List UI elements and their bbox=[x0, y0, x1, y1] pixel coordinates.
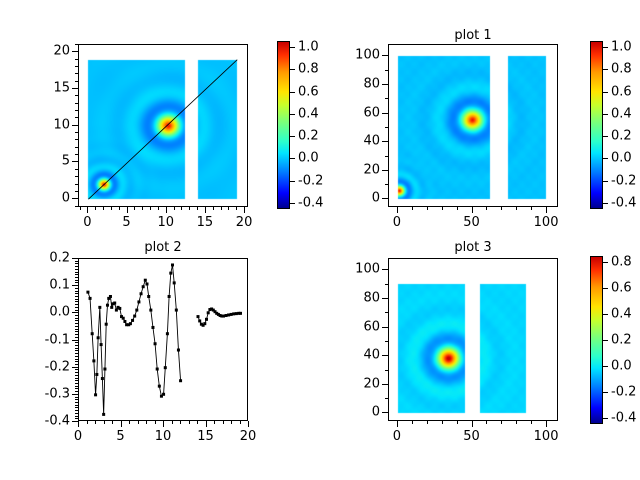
data-point-marker bbox=[140, 292, 143, 295]
x-minor-tick bbox=[138, 421, 139, 424]
y-minor-tick bbox=[75, 394, 78, 395]
colorbar-tick-label: -0.4 bbox=[611, 411, 636, 426]
y-minor-tick bbox=[75, 399, 78, 400]
data-point-marker bbox=[133, 315, 136, 318]
y-minor-tick bbox=[75, 402, 78, 403]
diagonal-reference-line bbox=[79, 45, 248, 207]
y-minor-tick bbox=[75, 301, 78, 302]
x-minor-tick bbox=[134, 207, 135, 210]
y-minor-tick bbox=[75, 310, 78, 311]
y-minor-tick bbox=[75, 369, 78, 370]
colorbar-tick-label: 0.4 bbox=[611, 106, 632, 121]
plot-title-top-right: plot 1 bbox=[383, 28, 563, 43]
data-point-marker bbox=[102, 413, 105, 416]
colorbar-tick bbox=[603, 288, 608, 289]
colorbar-tick bbox=[603, 136, 608, 137]
y-tick-label: 0.2 bbox=[28, 251, 70, 266]
y-minor-tick bbox=[75, 350, 78, 351]
data-point-marker bbox=[103, 368, 106, 371]
x-tick-label: 20 bbox=[236, 215, 253, 230]
data-point-marker bbox=[97, 336, 100, 339]
y-minor-tick bbox=[385, 384, 388, 385]
x-minor-tick bbox=[129, 421, 130, 424]
y-minor-tick bbox=[75, 345, 78, 346]
y-minor-tick bbox=[75, 263, 78, 264]
x-minor-tick bbox=[95, 421, 96, 424]
x-tick-label: 0 bbox=[393, 429, 401, 444]
x-minor-tick bbox=[214, 421, 215, 424]
x-minor-tick bbox=[228, 207, 229, 210]
colorbar-tick bbox=[290, 92, 295, 93]
y-minor-tick bbox=[385, 127, 388, 128]
y-minor-tick bbox=[75, 397, 78, 398]
x-minor-tick bbox=[80, 207, 81, 210]
y-minor-tick bbox=[75, 375, 78, 376]
colorbar-tick-label: 0.6 bbox=[611, 281, 632, 296]
y-minor-tick bbox=[75, 364, 78, 365]
y-minor-tick bbox=[75, 139, 78, 140]
y-tick-label: -0.3 bbox=[28, 386, 70, 401]
x-minor-tick bbox=[127, 207, 128, 210]
heatmap-field-bottom-right bbox=[389, 259, 558, 421]
y-minor-tick bbox=[75, 261, 78, 262]
x-minor-tick bbox=[121, 421, 122, 424]
y-minor-tick bbox=[75, 318, 78, 319]
colorbar-tick-label: 0.4 bbox=[611, 307, 632, 322]
y-tick-label: -0.4 bbox=[28, 414, 70, 429]
line-series-group bbox=[79, 259, 248, 421]
data-point-marker bbox=[205, 318, 208, 321]
data-point-marker bbox=[207, 311, 210, 314]
y-minor-tick bbox=[385, 412, 388, 413]
y-tick-label: 40 bbox=[340, 348, 380, 363]
colorbar-tick-label: 0.8 bbox=[611, 255, 632, 270]
data-point-marker bbox=[94, 393, 97, 396]
plot-area-bottom-left bbox=[78, 258, 248, 421]
data-point-marker bbox=[135, 309, 138, 312]
y-minor-tick bbox=[75, 147, 78, 148]
y-minor-tick bbox=[75, 266, 78, 267]
data-point-marker bbox=[164, 366, 167, 369]
y-minor-tick bbox=[75, 288, 78, 289]
x-tick-label: 0 bbox=[74, 429, 82, 444]
x-tick-label: 50 bbox=[463, 215, 480, 230]
plot-title-bottom-left: plot 2 bbox=[73, 240, 253, 255]
y-minor-tick bbox=[75, 280, 78, 281]
x-minor-tick bbox=[248, 421, 249, 424]
x-minor-tick bbox=[206, 421, 207, 424]
data-point-marker bbox=[109, 295, 112, 298]
x-minor-tick bbox=[442, 421, 443, 424]
x-minor-tick bbox=[172, 421, 173, 424]
y-minor-tick bbox=[75, 296, 78, 297]
x-tick-label: 100 bbox=[534, 429, 559, 444]
y-minor-tick bbox=[75, 269, 78, 270]
colorbar-tick bbox=[290, 203, 295, 204]
y-minor-tick bbox=[75, 353, 78, 354]
data-point-marker bbox=[129, 322, 132, 325]
y-minor-tick bbox=[75, 176, 78, 177]
y-minor-tick bbox=[385, 141, 388, 142]
colorbar-tick-label: 0.0 bbox=[298, 151, 319, 166]
colorbar-tick-label: -0.2 bbox=[298, 173, 323, 188]
colorbar-tick bbox=[603, 340, 608, 341]
plot-title-bottom-right: plot 3 bbox=[383, 240, 563, 255]
y-minor-tick bbox=[75, 132, 78, 133]
x-minor-tick bbox=[427, 207, 428, 210]
colorbar-tick bbox=[603, 418, 608, 419]
x-tick-label: 0 bbox=[83, 215, 91, 230]
data-point-marker bbox=[113, 302, 116, 305]
x-minor-tick bbox=[163, 421, 164, 424]
y-minor-tick bbox=[385, 98, 388, 99]
x-minor-tick bbox=[397, 207, 398, 210]
colorbar-tick-label: 0.0 bbox=[611, 151, 632, 166]
x-minor-tick bbox=[231, 421, 232, 424]
y-minor-tick bbox=[75, 206, 78, 207]
colorbar-tick-label: 0.2 bbox=[298, 129, 319, 144]
data-point-marker bbox=[91, 332, 94, 335]
colorbar-tick-label: 0.6 bbox=[611, 84, 632, 99]
colorbar-tick-label: 0.8 bbox=[298, 62, 319, 77]
data-point-marker bbox=[149, 309, 152, 312]
y-minor-tick bbox=[75, 421, 78, 422]
x-minor-tick bbox=[472, 421, 473, 424]
colorbar-tick-label: 1.0 bbox=[611, 40, 632, 55]
colorbar-tick bbox=[603, 366, 608, 367]
plot-area-top-right bbox=[388, 44, 558, 207]
colorbar-tick-label: -0.2 bbox=[611, 385, 636, 400]
colorbar-tick bbox=[603, 203, 608, 204]
data-point-marker bbox=[110, 306, 113, 309]
x-minor-tick bbox=[197, 421, 198, 424]
data-point-marker bbox=[122, 317, 125, 320]
data-point-marker bbox=[168, 295, 171, 298]
x-minor-tick bbox=[103, 207, 104, 210]
y-tick-label: 10 bbox=[30, 117, 70, 132]
x-minor-tick bbox=[516, 207, 517, 210]
y-minor-tick bbox=[75, 282, 78, 283]
y-tick-label: 60 bbox=[340, 319, 380, 334]
y-minor-tick bbox=[75, 342, 78, 343]
y-minor-tick bbox=[75, 154, 78, 155]
figure-canvas: 05101520051015201.00.80.60.40.20.0-0.2-0… bbox=[0, 0, 640, 480]
x-minor-tick bbox=[78, 421, 79, 424]
data-point-marker bbox=[146, 282, 149, 285]
x-tick-label: 20 bbox=[240, 429, 257, 444]
y-minor-tick bbox=[75, 361, 78, 362]
y-minor-tick bbox=[75, 359, 78, 360]
colorbar-tick bbox=[603, 92, 608, 93]
plot-area-bottom-right bbox=[388, 258, 558, 421]
x-minor-tick bbox=[146, 421, 147, 424]
x-minor-tick bbox=[472, 207, 473, 210]
colorbar-tick-label: 0.2 bbox=[611, 129, 632, 144]
y-minor-tick bbox=[75, 304, 78, 305]
x-minor-tick bbox=[158, 207, 159, 210]
colorbar-tick bbox=[290, 114, 295, 115]
y-minor-tick bbox=[75, 81, 78, 82]
x-minor-tick bbox=[142, 207, 143, 210]
y-minor-tick bbox=[75, 125, 78, 126]
colorbar-tick bbox=[290, 181, 295, 182]
data-point-marker bbox=[144, 279, 147, 282]
data-point-marker bbox=[197, 315, 200, 318]
x-minor-tick bbox=[223, 421, 224, 424]
y-tick-label: 100 bbox=[340, 262, 380, 277]
x-tick-label: 5 bbox=[122, 215, 130, 230]
data-point-marker bbox=[131, 319, 134, 322]
y-minor-tick bbox=[75, 277, 78, 278]
y-minor-tick bbox=[75, 383, 78, 384]
x-tick-label: 10 bbox=[157, 215, 174, 230]
y-minor-tick bbox=[75, 388, 78, 389]
y-minor-tick bbox=[75, 416, 78, 417]
data-point-marker bbox=[86, 291, 89, 294]
y-minor-tick bbox=[75, 380, 78, 381]
y-minor-tick bbox=[385, 184, 388, 185]
colorbar-tick bbox=[290, 136, 295, 137]
colorbar-tick bbox=[290, 47, 295, 48]
x-tick-label: 50 bbox=[463, 429, 480, 444]
y-tick-label: 0 bbox=[340, 405, 380, 420]
y-minor-tick bbox=[75, 372, 78, 373]
x-minor-tick bbox=[174, 207, 175, 210]
x-minor-tick bbox=[457, 207, 458, 210]
data-point-marker bbox=[158, 385, 161, 388]
data-point-marker bbox=[154, 342, 157, 345]
y-minor-tick bbox=[75, 312, 78, 313]
data-point-marker bbox=[98, 306, 101, 309]
colorbar-tick bbox=[603, 262, 608, 263]
x-minor-tick bbox=[205, 207, 206, 210]
y-minor-tick bbox=[75, 258, 78, 259]
x-minor-tick bbox=[119, 207, 120, 210]
colorbar-top-left bbox=[277, 41, 290, 209]
y-minor-tick bbox=[385, 156, 388, 157]
y-minor-tick bbox=[75, 331, 78, 332]
y-minor-tick bbox=[75, 291, 78, 292]
y-minor-tick bbox=[75, 59, 78, 60]
y-minor-tick bbox=[75, 315, 78, 316]
line-path bbox=[88, 265, 181, 414]
colorbar-tick bbox=[603, 47, 608, 48]
colorbar-top-right bbox=[590, 41, 603, 209]
y-tick-label: 100 bbox=[340, 48, 380, 63]
colorbar-tick-label: 1.0 bbox=[298, 40, 319, 55]
x-tick-label: 100 bbox=[534, 215, 559, 230]
data-point-marker bbox=[147, 295, 150, 298]
colorbar-tick-label: -0.4 bbox=[298, 196, 323, 211]
x-tick-label: 15 bbox=[197, 429, 214, 444]
y-minor-tick bbox=[75, 413, 78, 414]
y-minor-tick bbox=[75, 191, 78, 192]
x-minor-tick bbox=[150, 207, 151, 210]
y-tick-label: 0.1 bbox=[28, 278, 70, 293]
colorbar-tick bbox=[603, 392, 608, 393]
y-minor-tick bbox=[75, 326, 78, 327]
y-minor-tick bbox=[75, 418, 78, 419]
y-minor-tick bbox=[75, 274, 78, 275]
colorbar-tick-label: 0.8 bbox=[611, 62, 632, 77]
y-tick-label: 0.0 bbox=[28, 305, 70, 320]
y-minor-tick bbox=[75, 73, 78, 74]
x-minor-tick bbox=[486, 207, 487, 210]
x-minor-tick bbox=[95, 207, 96, 210]
y-minor-tick bbox=[75, 184, 78, 185]
data-point-marker bbox=[151, 326, 154, 329]
colorbar-tick bbox=[603, 158, 608, 159]
colorbar-tick bbox=[603, 314, 608, 315]
x-minor-tick bbox=[189, 207, 190, 210]
x-minor-tick bbox=[112, 421, 113, 424]
colorbar-tick-label: -0.2 bbox=[611, 173, 636, 188]
data-point-marker bbox=[198, 319, 201, 322]
x-minor-tick bbox=[166, 207, 167, 210]
x-minor-tick bbox=[111, 207, 112, 210]
data-point-marker bbox=[137, 300, 140, 303]
x-minor-tick bbox=[531, 421, 532, 424]
x-minor-tick bbox=[155, 421, 156, 424]
data-point-marker bbox=[173, 281, 176, 284]
data-point-marker bbox=[162, 393, 165, 396]
y-minor-tick bbox=[75, 169, 78, 170]
x-tick-label: 0 bbox=[393, 215, 401, 230]
data-point-marker bbox=[105, 323, 108, 326]
x-minor-tick bbox=[412, 421, 413, 424]
x-minor-tick bbox=[531, 207, 532, 210]
data-point-marker bbox=[101, 377, 104, 380]
y-minor-tick bbox=[75, 386, 78, 387]
y-tick-label: 20 bbox=[30, 44, 70, 59]
y-minor-tick bbox=[75, 367, 78, 368]
data-point-marker bbox=[95, 373, 98, 376]
colorbar-tick-label: 0.4 bbox=[298, 106, 319, 121]
y-tick-label: 0 bbox=[30, 191, 70, 206]
data-point-marker bbox=[166, 332, 169, 335]
y-minor-tick bbox=[75, 95, 78, 96]
y-minor-tick bbox=[75, 329, 78, 330]
data-point-marker bbox=[171, 263, 174, 266]
colorbar-tick bbox=[290, 69, 295, 70]
data-point-marker bbox=[156, 368, 159, 371]
x-tick-label: 10 bbox=[155, 429, 172, 444]
x-minor-tick bbox=[213, 207, 214, 210]
x-minor-tick bbox=[87, 421, 88, 424]
y-tick-label: 40 bbox=[340, 134, 380, 149]
colorbar-tick bbox=[603, 181, 608, 182]
data-point-marker bbox=[203, 322, 206, 325]
y-tick-label: 60 bbox=[340, 105, 380, 120]
x-minor-tick bbox=[427, 421, 428, 424]
colorbar-tick-label: -0.4 bbox=[611, 196, 636, 211]
data-point-marker bbox=[118, 307, 121, 310]
y-minor-tick bbox=[75, 198, 78, 199]
y-minor-tick bbox=[75, 320, 78, 321]
x-minor-tick bbox=[412, 207, 413, 210]
y-minor-tick bbox=[385, 284, 388, 285]
data-point-marker bbox=[179, 379, 182, 382]
x-minor-tick bbox=[501, 421, 502, 424]
data-point-marker bbox=[100, 343, 103, 346]
data-point-marker bbox=[89, 297, 92, 300]
y-minor-tick bbox=[75, 391, 78, 392]
y-tick-label: 5 bbox=[30, 154, 70, 169]
data-point-marker bbox=[169, 272, 172, 275]
y-minor-tick bbox=[75, 378, 78, 379]
x-minor-tick bbox=[197, 207, 198, 210]
y-tick-label: 20 bbox=[340, 162, 380, 177]
data-point-marker bbox=[142, 285, 145, 288]
x-minor-tick bbox=[442, 207, 443, 210]
colorbar-tick-label: 0.6 bbox=[298, 84, 319, 99]
x-minor-tick bbox=[397, 421, 398, 424]
data-point-marker bbox=[115, 309, 118, 312]
data-point-marker bbox=[92, 359, 95, 362]
x-minor-tick bbox=[221, 207, 222, 210]
y-minor-tick bbox=[75, 293, 78, 294]
colorbar-tick bbox=[603, 69, 608, 70]
data-point-marker bbox=[123, 320, 126, 323]
y-tick-label: 0 bbox=[340, 191, 380, 206]
y-minor-tick bbox=[75, 117, 78, 118]
y-tick-label: -0.1 bbox=[28, 332, 70, 347]
y-minor-tick bbox=[385, 355, 388, 356]
y-minor-tick bbox=[75, 410, 78, 411]
y-minor-tick bbox=[385, 113, 388, 114]
y-minor-tick bbox=[75, 161, 78, 162]
x-minor-tick bbox=[236, 207, 237, 210]
x-minor-tick bbox=[87, 207, 88, 210]
y-minor-tick bbox=[385, 84, 388, 85]
x-minor-tick bbox=[546, 207, 547, 210]
y-minor-tick bbox=[385, 269, 388, 270]
colorbar-bottom-right bbox=[590, 256, 603, 424]
x-minor-tick bbox=[244, 207, 245, 210]
y-minor-tick bbox=[75, 407, 78, 408]
colorbar-tick bbox=[603, 114, 608, 115]
x-minor-tick bbox=[180, 421, 181, 424]
data-point-marker bbox=[106, 304, 109, 307]
x-tick-label: 5 bbox=[116, 429, 124, 444]
x-minor-tick bbox=[104, 421, 105, 424]
x-minor-tick bbox=[546, 421, 547, 424]
y-tick-label: 80 bbox=[340, 291, 380, 306]
y-minor-tick bbox=[75, 323, 78, 324]
y-minor-tick bbox=[75, 51, 78, 52]
y-tick-label: 15 bbox=[30, 81, 70, 96]
y-minor-tick bbox=[385, 341, 388, 342]
y-minor-tick bbox=[75, 334, 78, 335]
y-tick-label: -0.2 bbox=[28, 359, 70, 374]
data-point-marker bbox=[175, 309, 178, 312]
x-minor-tick bbox=[516, 421, 517, 424]
y-minor-tick bbox=[385, 312, 388, 313]
y-minor-tick bbox=[385, 70, 388, 71]
x-minor-tick bbox=[457, 421, 458, 424]
y-minor-tick bbox=[75, 88, 78, 89]
colorbar-tick-label: 0.0 bbox=[611, 359, 632, 374]
y-minor-tick bbox=[75, 285, 78, 286]
y-minor-tick bbox=[75, 272, 78, 273]
heatmap-field-top-right bbox=[389, 45, 558, 207]
x-minor-tick bbox=[181, 207, 182, 210]
plot-area-top-left bbox=[78, 44, 248, 207]
y-minor-tick bbox=[385, 198, 388, 199]
x-minor-tick bbox=[486, 421, 487, 424]
y-minor-tick bbox=[385, 55, 388, 56]
x-minor-tick bbox=[189, 421, 190, 424]
